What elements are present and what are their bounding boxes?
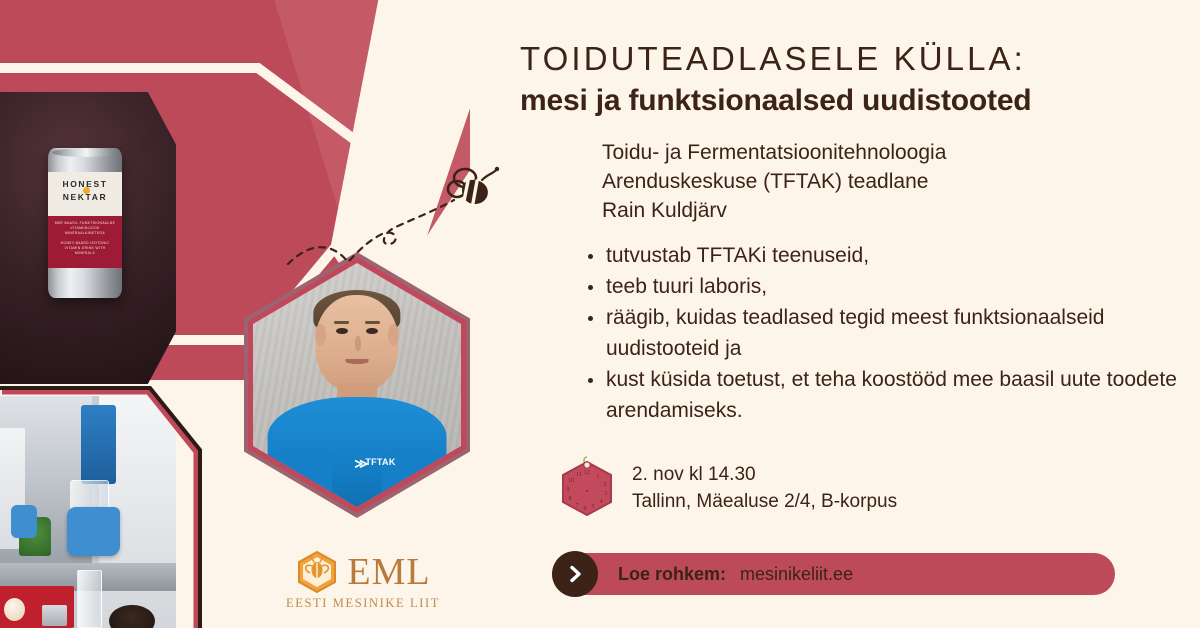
lab-glove-right bbox=[67, 507, 120, 556]
page-title-main: mesi ja funktsionaalsed uudistooted bbox=[520, 84, 1180, 118]
svg-text:3: 3 bbox=[605, 491, 608, 497]
lab-equipment bbox=[81, 405, 116, 484]
portrait-ear-left bbox=[315, 324, 325, 346]
svg-text:9: 9 bbox=[567, 487, 570, 493]
eml-wordmark: EML bbox=[347, 553, 430, 591]
lab-photo bbox=[0, 396, 176, 628]
svg-text:8: 8 bbox=[569, 496, 572, 502]
portrait-brow-left bbox=[334, 321, 349, 325]
svg-text:7: 7 bbox=[576, 503, 579, 509]
portrait-eye-left bbox=[336, 328, 347, 334]
can-accent-dot bbox=[83, 187, 90, 194]
svg-text:11: 11 bbox=[576, 472, 582, 478]
eml-logo: EML EESTI MESINIKE LIIT bbox=[286, 550, 440, 611]
can-label-text-et: MEE BAASIL FUNKTSIONAALNE VITAMIINIJOOK … bbox=[54, 221, 116, 237]
event-date: 2. nov kl 14.30 bbox=[632, 461, 897, 488]
lab-bottle bbox=[77, 570, 102, 628]
lead-line-3: Rain Kuldjärv bbox=[602, 196, 1162, 225]
lead-line-2: Arenduskeskuse (TFTAK) teadlane bbox=[602, 167, 1162, 196]
svg-text:4: 4 bbox=[600, 499, 603, 505]
list-item: kust küsida toetust, et teha koostööd me… bbox=[580, 364, 1180, 426]
read-more-cta[interactable]: Loe rohkem: mesinikeliit.ee bbox=[560, 553, 1115, 595]
event-location: Tallinn, Mäealuse 2/4, B-korpus bbox=[632, 488, 897, 515]
svg-text:6: 6 bbox=[584, 506, 587, 512]
svg-text:10: 10 bbox=[568, 478, 574, 484]
svg-text:1: 1 bbox=[597, 474, 600, 480]
list-item: räägib, kuidas teadlased tegid meest fun… bbox=[580, 302, 1180, 364]
lead-line-1: Toidu- ja Fermentatsioonitehnoloogia bbox=[602, 138, 1162, 167]
list-item: teeb tuuri laboris, bbox=[580, 271, 1180, 302]
portrait-eye-right bbox=[366, 328, 377, 334]
bee-flight-path bbox=[288, 200, 454, 264]
lab-jar-lid bbox=[42, 605, 67, 626]
bee-icon bbox=[448, 167, 499, 204]
honey-can-photo: HONEST NEKTAR MEE BAASIL FUNKTSIONAALNE … bbox=[0, 92, 176, 384]
portrait-ear-right bbox=[388, 324, 398, 346]
can-label-text-en: HONEY-BASED ISOTONIC VITAMIN DRINK WITH … bbox=[54, 241, 116, 257]
svg-text:12: 12 bbox=[584, 470, 590, 476]
hexagon-clock-icon: 12 1 2 3 4 5 6 7 8 9 10 11 bbox=[556, 454, 618, 522]
portrait-nose bbox=[355, 336, 361, 351]
bee-illustration bbox=[286, 156, 526, 276]
svg-text:2: 2 bbox=[604, 482, 607, 488]
page-title-kicker: TOIDUTEADLASELE KÜLLA: bbox=[520, 40, 1180, 78]
tftak-shirt-logo: ≫ TFTAK bbox=[365, 458, 395, 468]
speaker-portrait: ≫ TFTAK bbox=[244, 252, 470, 518]
event-details: 12 1 2 3 4 5 6 7 8 9 10 11 2. nov kl 14.… bbox=[556, 454, 897, 522]
tftak-mark-icon: ≫ bbox=[354, 459, 368, 469]
lab-onion bbox=[4, 598, 25, 621]
event-poster: HONEST NEKTAR MEE BAASIL FUNKTSIONAALNE … bbox=[0, 0, 1200, 628]
list-item: tutvustab TFTAKi teenuseid, bbox=[580, 240, 1180, 271]
can-lid bbox=[52, 148, 118, 157]
content-column: TOIDUTEADLASELE KÜLLA: mesi ja funktsion… bbox=[520, 0, 1180, 628]
program-bullet-list: tutvustab TFTAKi teenuseid, teeb tuuri l… bbox=[580, 240, 1180, 426]
speaker-intro: Toidu- ja Fermentatsioonitehnoloogia Are… bbox=[602, 138, 1162, 225]
portrait-brow-right bbox=[365, 321, 380, 325]
svg-text:5: 5 bbox=[592, 504, 595, 510]
can-body: HONEST NEKTAR MEE BAASIL FUNKTSIONAALNE … bbox=[48, 148, 122, 298]
cta-url[interactable]: mesinikeliit.ee bbox=[740, 564, 853, 585]
chevron-right-icon[interactable] bbox=[552, 551, 598, 597]
event-datetime-location: 2. nov kl 14.30 Tallinn, Mäealuse 2/4, B… bbox=[632, 461, 897, 515]
lab-glove-left bbox=[11, 505, 37, 537]
cta-label: Loe rohkem: bbox=[618, 564, 726, 585]
hexagon-bee-icon bbox=[295, 550, 339, 594]
portrait-mouth bbox=[346, 359, 369, 364]
eml-subtitle: EESTI MESINIKE LIIT bbox=[286, 596, 440, 611]
